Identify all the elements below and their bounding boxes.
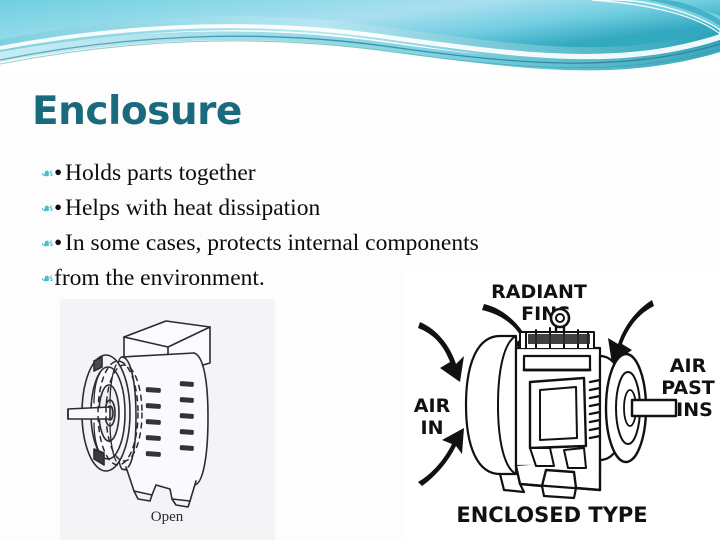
radiant-fins-label-line1: RADIANT (491, 281, 587, 303)
air-in-label-line1: AIR (414, 395, 451, 417)
list-item-label: from the environment. (54, 261, 265, 296)
floral-bullet-icon: ❧ (34, 226, 54, 261)
floral-bullet-icon: ❧ (34, 156, 54, 191)
list-item-label: In some cases, protects internal compone… (65, 226, 479, 261)
open-motor-image: Open (60, 299, 275, 540)
floral-bullet-icon: ❧ (34, 261, 54, 296)
dot-bullet-icon: • (54, 191, 65, 226)
dot-bullet-icon: • (54, 226, 65, 261)
slide-canvas: Enclosure ❧ • Holds parts together ❧ • H… (0, 0, 720, 540)
air-past-fins-label-line2: PAST (661, 377, 715, 399)
dot-bullet-icon: • (54, 156, 65, 191)
enclosed-motor-image: RADIANT FINS AIR IN AIR PAST FINS ENCLOS… (404, 270, 720, 540)
list-item-label: Holds parts together (65, 156, 256, 191)
enclosed-motor-caption: ENCLOSED TYPE (456, 503, 647, 527)
air-in-label-line2: IN (421, 417, 444, 439)
page-title: Enclosure (32, 92, 242, 133)
list-item: ❧ • Helps with heat dissipation (34, 191, 694, 226)
list-item-label: Helps with heat dissipation (65, 191, 320, 226)
list-item: ❧ • In some cases, protects internal com… (34, 226, 694, 261)
floral-bullet-icon: ❧ (34, 191, 54, 226)
header-wave-decoration (0, 0, 720, 72)
list-item: ❧ • Holds parts together (34, 156, 694, 191)
air-past-fins-label-line1: AIR (670, 355, 707, 377)
open-motor-caption: Open (151, 509, 184, 525)
